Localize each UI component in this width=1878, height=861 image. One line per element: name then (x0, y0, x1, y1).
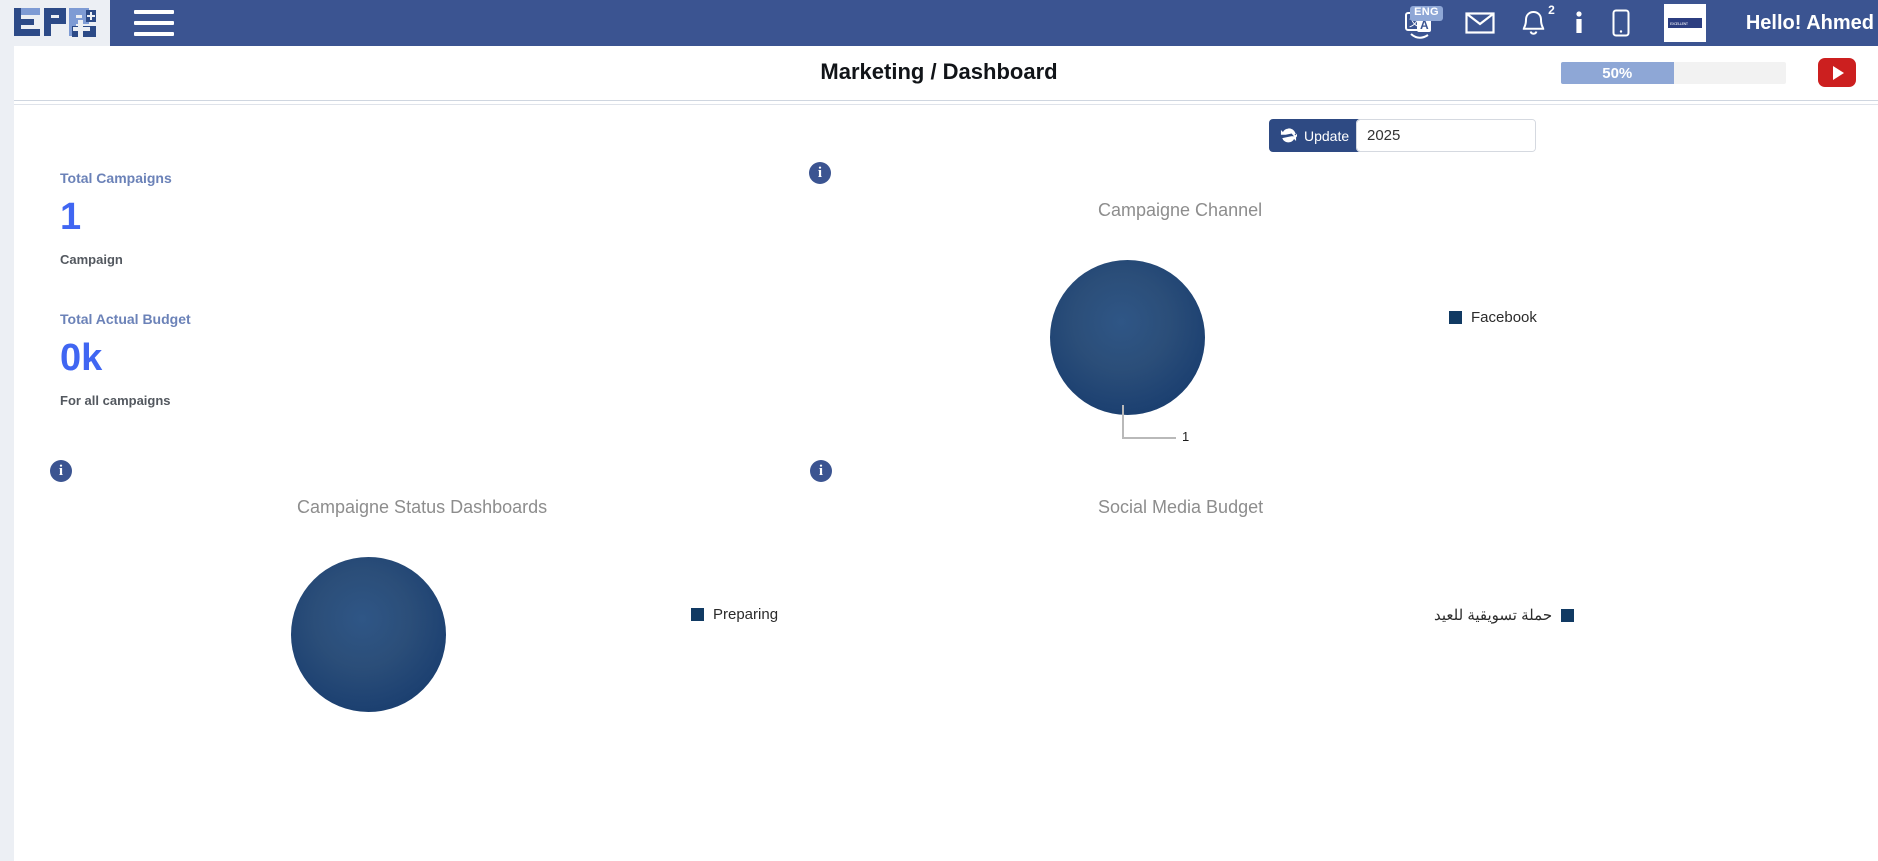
legend-swatch (1561, 609, 1574, 622)
chart-title-social-media-budget: Social Media Budget (1098, 497, 1263, 518)
leader-line-vertical (1122, 405, 1124, 439)
user-greeting[interactable]: Hello! Ahmed (1746, 12, 1878, 35)
chart-title-campaigne-status: Campaigne Status Dashboards (297, 497, 547, 518)
legend-label: Preparing (713, 606, 778, 623)
translate-icon: 文 A ENG (1403, 4, 1439, 42)
top-navigation-bar: 文 A ENG 2 (0, 0, 1878, 46)
erp-plus-logo-icon (12, 6, 98, 40)
chart-title-campaigne-channel: Campaigne Channel (1098, 200, 1262, 221)
kpi-title: Total Campaigns (60, 170, 360, 186)
kpi-card-total-campaigns: Total Campaigns 1 Campaign (60, 170, 360, 267)
kpi-value: 0k (60, 339, 360, 379)
hamburger-menu-icon[interactable] (124, 0, 184, 46)
info-i-icon (1572, 10, 1586, 36)
youtube-help-button[interactable] (1818, 58, 1856, 87)
kpi-subtitle: For all campaigns (60, 393, 360, 408)
update-button-label: Update (1304, 128, 1349, 144)
hamburger-bar (134, 10, 174, 14)
year-input[interactable] (1357, 120, 1536, 151)
kpi-card-total-actual-budget: Total Actual Budget 0k For all campaigns (60, 311, 360, 408)
avatar-image: EXCELLENT (1668, 18, 1702, 28)
topbar-icon-group: 文 A ENG 2 (1403, 0, 1878, 46)
legend-social-media-budget[interactable]: حملة تسويقية للعيد (1434, 606, 1574, 624)
avatar-label: EXCELLENT (1670, 21, 1688, 26)
leader-line-horizontal (1122, 437, 1176, 439)
progress-bar[interactable]: 50% (1561, 62, 1786, 84)
legend-label: حملة تسويقية للعيد (1434, 606, 1552, 624)
legend-campaigne-channel[interactable]: Facebook (1449, 309, 1537, 326)
language-badge: ENG (1410, 6, 1443, 21)
legend-swatch (1449, 311, 1462, 324)
hamburger-bar (134, 32, 174, 36)
pie-data-label: 1 (1182, 429, 1189, 444)
app-logo[interactable] (0, 0, 110, 46)
pie-leader-line-campaigne-channel: 1 (1122, 405, 1262, 465)
refresh-icon (1280, 127, 1297, 144)
left-gutter-rail (0, 101, 14, 861)
legend-label: Facebook (1471, 309, 1537, 326)
language-switcher[interactable]: 文 A ENG (1403, 0, 1439, 46)
pie-chart-campaigne-channel[interactable] (1050, 260, 1205, 415)
legend-swatch (691, 608, 704, 621)
bell-icon (1521, 10, 1546, 37)
update-button[interactable]: Update (1269, 119, 1362, 152)
pie-chart-campaigne-status[interactable] (291, 557, 446, 712)
year-filter-group (1356, 119, 1536, 152)
avatar[interactable]: EXCELLENT (1664, 4, 1706, 42)
notification-count-badge: 2 (1548, 4, 1555, 16)
progress-bar-fill: 50% (1561, 62, 1674, 84)
kpi-title: Total Actual Budget (60, 311, 360, 327)
info-icon-kpi[interactable]: i (50, 460, 72, 482)
notifications-button[interactable]: 2 (1521, 0, 1546, 46)
page-title-bar: Marketing / Dashboard 50% (0, 46, 1878, 101)
info-icon-social-media-budget[interactable]: i (810, 460, 832, 482)
mobile-app-button[interactable] (1612, 0, 1630, 46)
hamburger-bar (134, 21, 174, 25)
kpi-subtitle: Campaign (60, 252, 360, 267)
info-icon-campaigne-channel[interactable]: i (809, 162, 831, 184)
info-button[interactable] (1572, 0, 1586, 46)
legend-campaigne-status[interactable]: Preparing (691, 606, 778, 623)
kpi-value: 1 (60, 198, 360, 238)
youtube-play-icon (1833, 66, 1844, 80)
envelope-icon (1465, 11, 1495, 35)
dashboard-content: Update Total Campaigns 1 Campaign Total … (14, 104, 1878, 861)
mail-button[interactable] (1465, 0, 1495, 46)
mobile-phone-icon (1612, 9, 1630, 37)
